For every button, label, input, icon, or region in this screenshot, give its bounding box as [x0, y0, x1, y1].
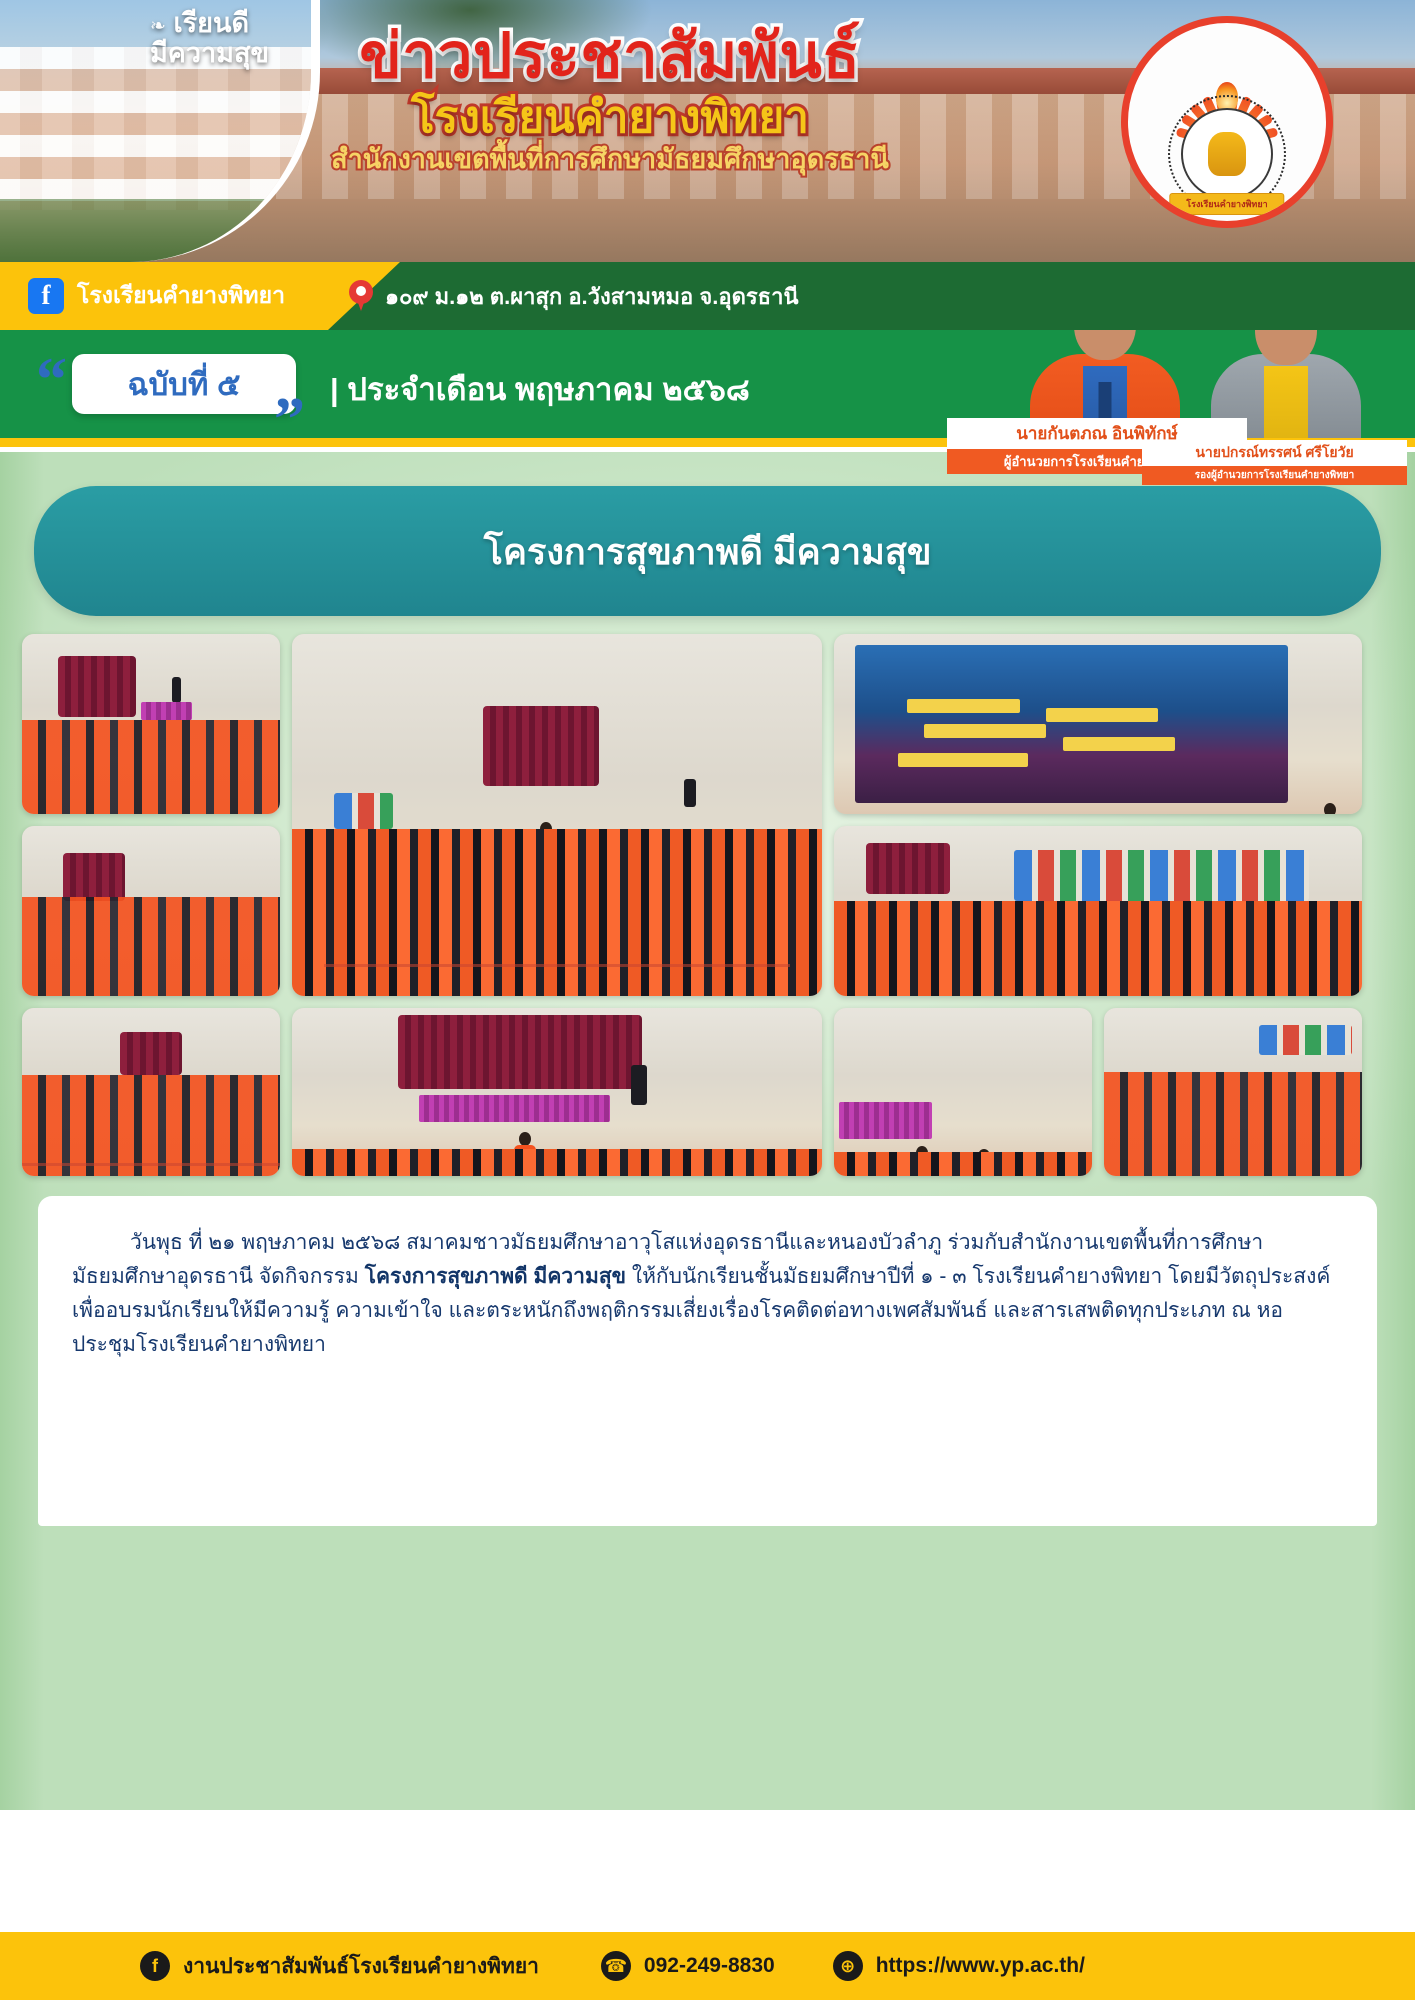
gallery-photo-9[interactable] — [1104, 1008, 1362, 1176]
article-body: วันพุธ ที่ ๒๑ พฤษภาคม ๒๕๖๘ สมาคมชาวมัธยม… — [72, 1226, 1343, 1362]
address-contact: ๑๐๙ ม.๑๒ ต.ผาสุก อ.วังสามหมอ จ.อุดรธานี — [349, 279, 799, 314]
topic-banner: โครงการสุขภาพดี มีความสุข — [34, 486, 1381, 616]
gallery-photo-5[interactable] — [834, 826, 1362, 996]
slogan-block: ❧ เรียนดี มีความสุข — [150, 8, 269, 68]
hero-title-block: ข่าวประชาสัมพันธ์ โรงเรียนคำยางพิทยา สำน… — [300, 26, 920, 173]
gallery-photo-6[interactable] — [22, 1008, 280, 1176]
article-card: วันพุธ ที่ ๒๑ พฤษภาคม ๒๕๖๘ สมาคมชาวมัธยม… — [38, 1196, 1377, 1526]
footer-bar: f งานประชาสัมพันธ์โรงเรียนคำยางพิทยา ☎ 0… — [0, 1932, 1415, 2000]
newsletter-page: ❧ เรียนดี มีความสุข ข่าวประชาสัมพันธ์ โร… — [0, 0, 1415, 2000]
facebook-page-name: โรงเรียนคำยางพิทยา — [77, 278, 285, 314]
gallery-photo-7[interactable] — [292, 1008, 822, 1176]
map-pin-icon — [349, 280, 373, 312]
emblem-inner-ring — [1181, 108, 1273, 200]
slogan-line-1: เรียนดี — [173, 8, 249, 38]
phone-icon[interactable]: ☎ — [601, 1951, 631, 1981]
facebook-icon[interactable]: f — [28, 278, 64, 314]
issue-number-label: ฉบับที่ ๕ — [128, 359, 241, 409]
slogan-line-2: มีความสุข — [150, 38, 269, 68]
gallery-photo-8[interactable] — [834, 1008, 1092, 1176]
school-name-title: โรงเรียนคำยางพิทยา — [300, 96, 920, 140]
gallery-photo-1[interactable] — [22, 634, 280, 814]
footer-facebook-text: งานประชาสัมพันธ์โรงเรียนคำยางพิทยา — [183, 1950, 539, 1983]
leaf-icon: ❧ — [150, 16, 166, 37]
facebook-icon[interactable]: f — [140, 1951, 170, 1981]
issue-month-label: | ประจำเดือน พฤษภาคม ๒๕๖๘ — [330, 364, 750, 414]
newsletter-title: ข่าวประชาสัมพันธ์ — [300, 26, 920, 88]
deputy-name: นายปกรณ์ทรรศน์ ศรีโยวัย — [1142, 440, 1407, 466]
deputy-title: รองผู้อำนวยการโรงเรียนคำยางพิทยา — [1142, 466, 1407, 485]
issue-number-pill: ฉบับที่ ๕ — [72, 354, 296, 414]
gallery-photo-4[interactable] — [22, 826, 280, 996]
contact-bar: f โรงเรียนคำยางพิทยา ๑๐๙ ม.๑๒ ต.ผาสุก อ.… — [0, 262, 1415, 330]
gallery-photo-2[interactable] — [292, 634, 822, 996]
facebook-contact[interactable]: f โรงเรียนคำยางพิทยา — [28, 278, 285, 314]
deputy-name-plate: นายปกรณ์ทรรศน์ ศรีโยวัย รองผู้อำนวยการโร… — [1142, 440, 1407, 485]
quote-open-icon: “ — [36, 362, 67, 399]
topic-title: โครงการสุขภาพดี มีความสุข — [484, 523, 932, 580]
globe-icon[interactable]: ⊕ — [833, 1951, 863, 1981]
education-office-subtitle: สำนักงานเขตพื้นที่การศึกษามัธยมศึกษาอุดร… — [300, 146, 920, 173]
footer-facebook[interactable]: f งานประชาสัมพันธ์โรงเรียนคำยางพิทยา — [140, 1950, 539, 1983]
emblem-banner-label: โรงเรียนคำยางพิทยา — [1169, 193, 1284, 215]
school-emblem-icon: โรงเรียนคำยางพิทยา — [1121, 16, 1333, 228]
article-highlight: โครงการสุขภาพดี มีความสุข — [365, 1265, 626, 1288]
footer-website[interactable]: ⊕ https://www.yp.ac.th/ — [833, 1951, 1085, 1981]
footer-phone[interactable]: ☎ 092-249-8830 — [601, 1951, 775, 1981]
quote-close-icon: ” — [274, 402, 305, 438]
footer-phone-text: 092-249-8830 — [644, 1954, 775, 1978]
gallery-photo-3[interactable] — [834, 634, 1362, 814]
content-area: โครงการสุขภาพดี มีความสุข — [0, 452, 1415, 1810]
photo-gallery — [22, 634, 1393, 1176]
hero-header: ❧ เรียนดี มีความสุข ข่าวประชาสัมพันธ์ โร… — [0, 0, 1415, 262]
school-address: ๑๐๙ ม.๑๒ ต.ผาสุก อ.วังสามหมอ จ.อุดรธานี — [385, 279, 799, 314]
footer-website-text: https://www.yp.ac.th/ — [876, 1954, 1085, 1978]
